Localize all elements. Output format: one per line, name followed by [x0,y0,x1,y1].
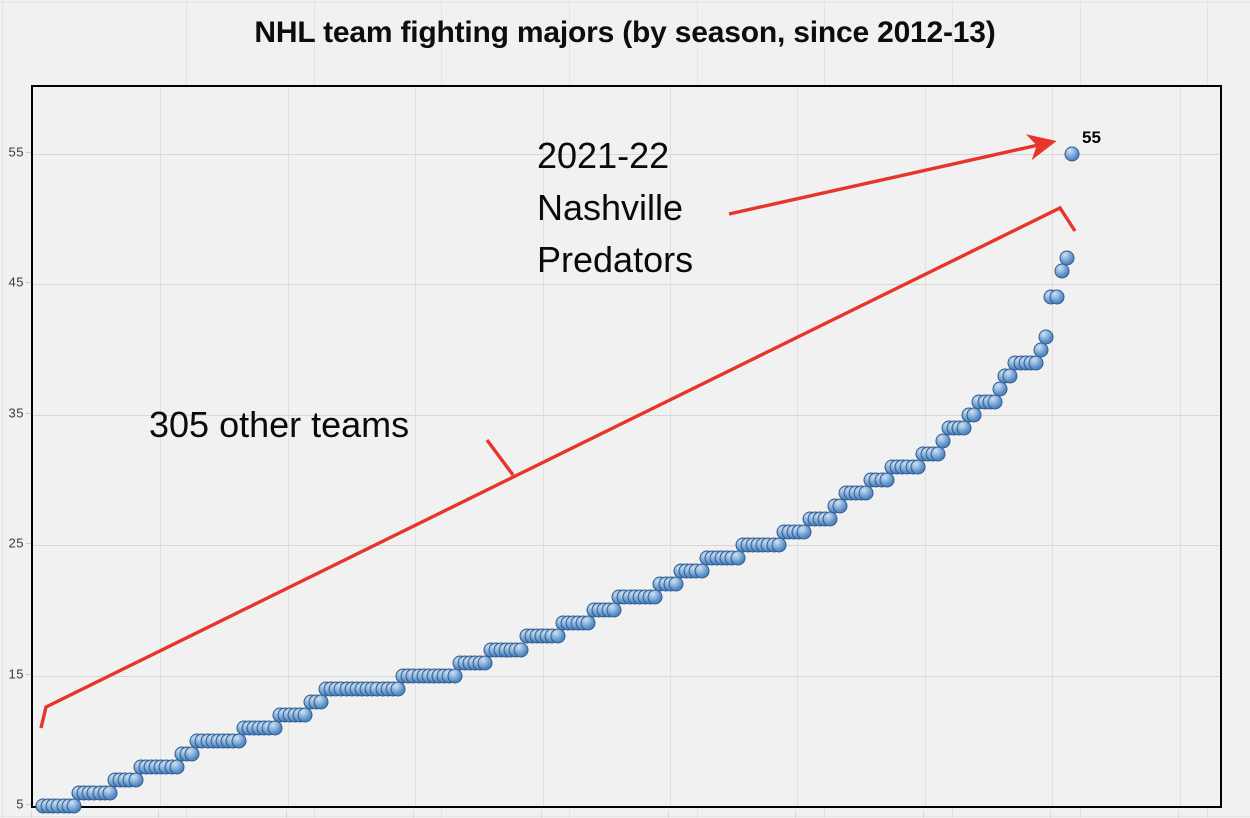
data-point [267,720,282,735]
x-axis-tick [923,810,924,818]
data-point [128,772,143,787]
data-point [607,603,622,618]
data-point [833,499,848,514]
data-point [231,733,246,748]
data-point [730,551,745,566]
chart-title: NHL team fighting majors (by season, sin… [0,16,1250,50]
data-point [879,473,894,488]
y-axis-tick-label: 55 [0,145,24,160]
x-axis-tick [31,810,32,818]
data-point [478,655,493,670]
x-axis-tick [286,810,287,818]
x-axis-tick [1178,810,1179,818]
data-point [550,629,565,644]
data-point [936,433,951,448]
annotation-nashville-predators: 2021-22 Nashville Predators [537,130,693,286]
data-point [391,681,406,696]
x-axis-tick [668,810,669,818]
chart-canvas: NHL team fighting majors (by season, sin… [0,0,1250,818]
data-point [1039,329,1054,344]
data-point [102,785,117,800]
x-axis-tick [413,810,414,818]
data-point [931,446,946,461]
data-point-highlight-max [1065,147,1080,162]
data-point [668,577,683,592]
data-point [66,799,81,814]
data-point [1059,251,1074,266]
data-point [987,394,1002,409]
vertical-gridline [160,87,161,806]
horizontal-gridline [33,676,1220,677]
vertical-gridline [797,87,798,806]
backdrop-gridline [0,816,1250,817]
data-point [1028,355,1043,370]
y-axis-tick-label: 5 [0,797,24,812]
data-point [298,707,313,722]
x-axis-tick [1050,810,1051,818]
data-point [992,381,1007,396]
x-axis-tick [795,810,796,818]
annotation-other-teams: 305 other teams [149,404,409,446]
backdrop-gridline [0,2,1250,3]
y-axis-tick-label: 25 [0,536,24,551]
data-point [797,525,812,540]
vertical-gridline [288,87,289,806]
data-point [956,420,971,435]
annotation-line-city: Nashville [537,182,693,234]
data-point [1049,290,1064,305]
data-point [967,407,982,422]
data-point [169,759,184,774]
data-point [1003,368,1018,383]
data-point [771,538,786,553]
data-point [823,512,838,527]
vertical-gridline [1180,87,1181,806]
x-axis-tick [158,810,159,818]
horizontal-gridline [33,545,1220,546]
vertical-gridline [415,87,416,806]
data-point [910,459,925,474]
data-point [581,616,596,631]
data-point [313,694,328,709]
vertical-gridline [1052,87,1053,806]
y-axis-tick-label: 15 [0,666,24,681]
data-point [859,486,874,501]
annotation-line-season: 2021-22 [537,130,693,182]
data-point [1034,342,1049,357]
data-point [185,746,200,761]
y-axis-tick-label: 35 [0,405,24,420]
y-axis-tick-label: 45 [0,275,24,290]
data-point [447,668,462,683]
x-axis-tick [541,810,542,818]
data-point [514,642,529,657]
annotation-line-team: Predators [537,234,693,286]
data-point [694,564,709,579]
data-point [648,590,663,605]
data-point [1054,264,1069,279]
data-label-max-value: 55 [1082,128,1101,148]
